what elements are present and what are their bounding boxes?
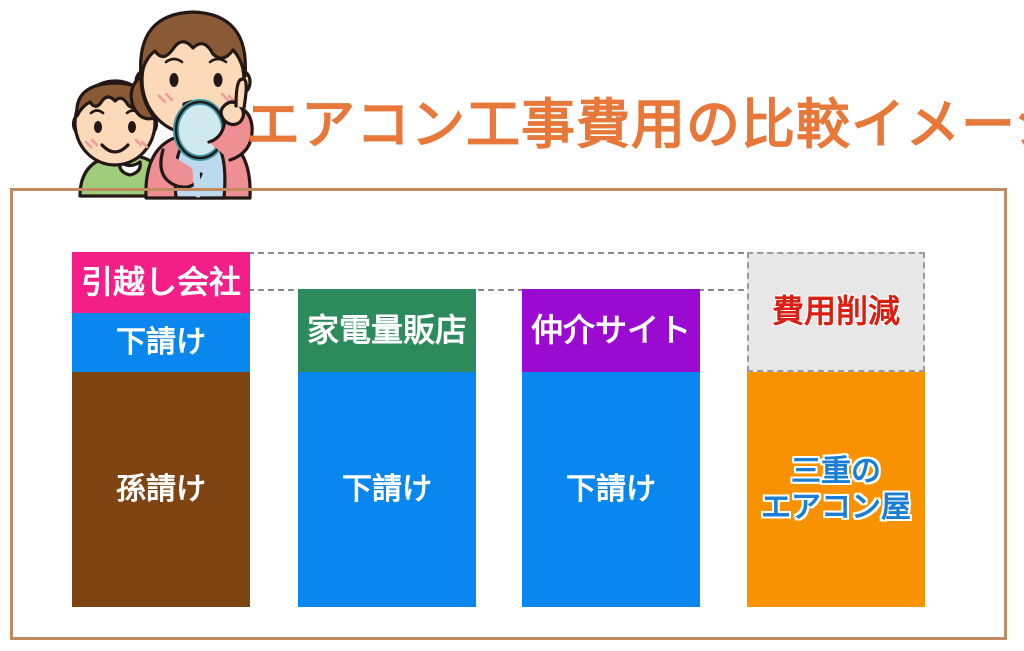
bar-segment-brokerage-site: 仲介サイト (522, 289, 700, 372)
bar-segment-cost-savings: 費用削減 (747, 252, 925, 372)
page-title: エアコン工事費用の比較イメージ (246, 86, 1021, 164)
bar-segment-subcontractor: 下請け (298, 372, 476, 607)
bar-segment-electronics-retailer: 家電量販店 (298, 289, 476, 372)
bar-segment-subcontractor: 下請け (72, 313, 250, 372)
bar-segment-moving-company: 引越し会社 (72, 252, 250, 313)
bar-segment-mie-aircon-ya: 三重の エアコン屋 (747, 372, 925, 607)
mother-and-child-illustration (28, 0, 268, 200)
adult-figure (131, 12, 252, 198)
bar-segment-sub-subcontractor: 孫請け (72, 372, 250, 607)
bar-moving-company: 引越し会社 下請け 孫請け (72, 252, 250, 607)
bar-mie-aircon-ya: 費用削減 三重の エアコン屋 (747, 252, 925, 607)
bar-segment-subcontractor: 下請け (522, 372, 700, 607)
bar-brokerage-site: 仲介サイト 下請け (522, 289, 700, 607)
bar-electronics-retailer: 家電量販店 下請け (298, 289, 476, 607)
infographic-canvas: エアコン工事費用の比較イメージ 引越し会社 下請け 孫請け 家電量販店 下請け … (0, 0, 1024, 651)
